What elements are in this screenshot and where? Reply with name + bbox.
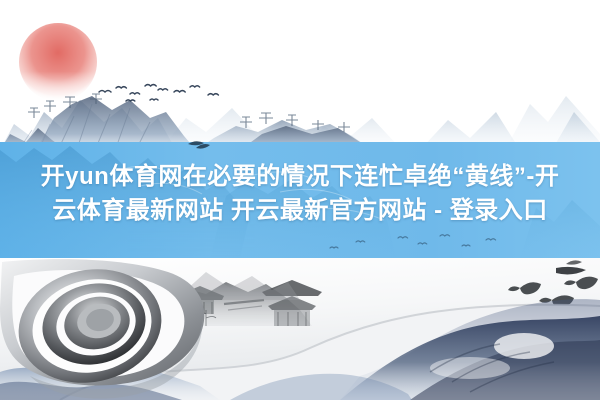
lower-scroll-art — [0, 0, 600, 400]
banner-image: 开yun体育网在必要的情况下连忙卓绝“黄线”-开 云体育最新网站 开云最新官方网… — [0, 0, 600, 400]
